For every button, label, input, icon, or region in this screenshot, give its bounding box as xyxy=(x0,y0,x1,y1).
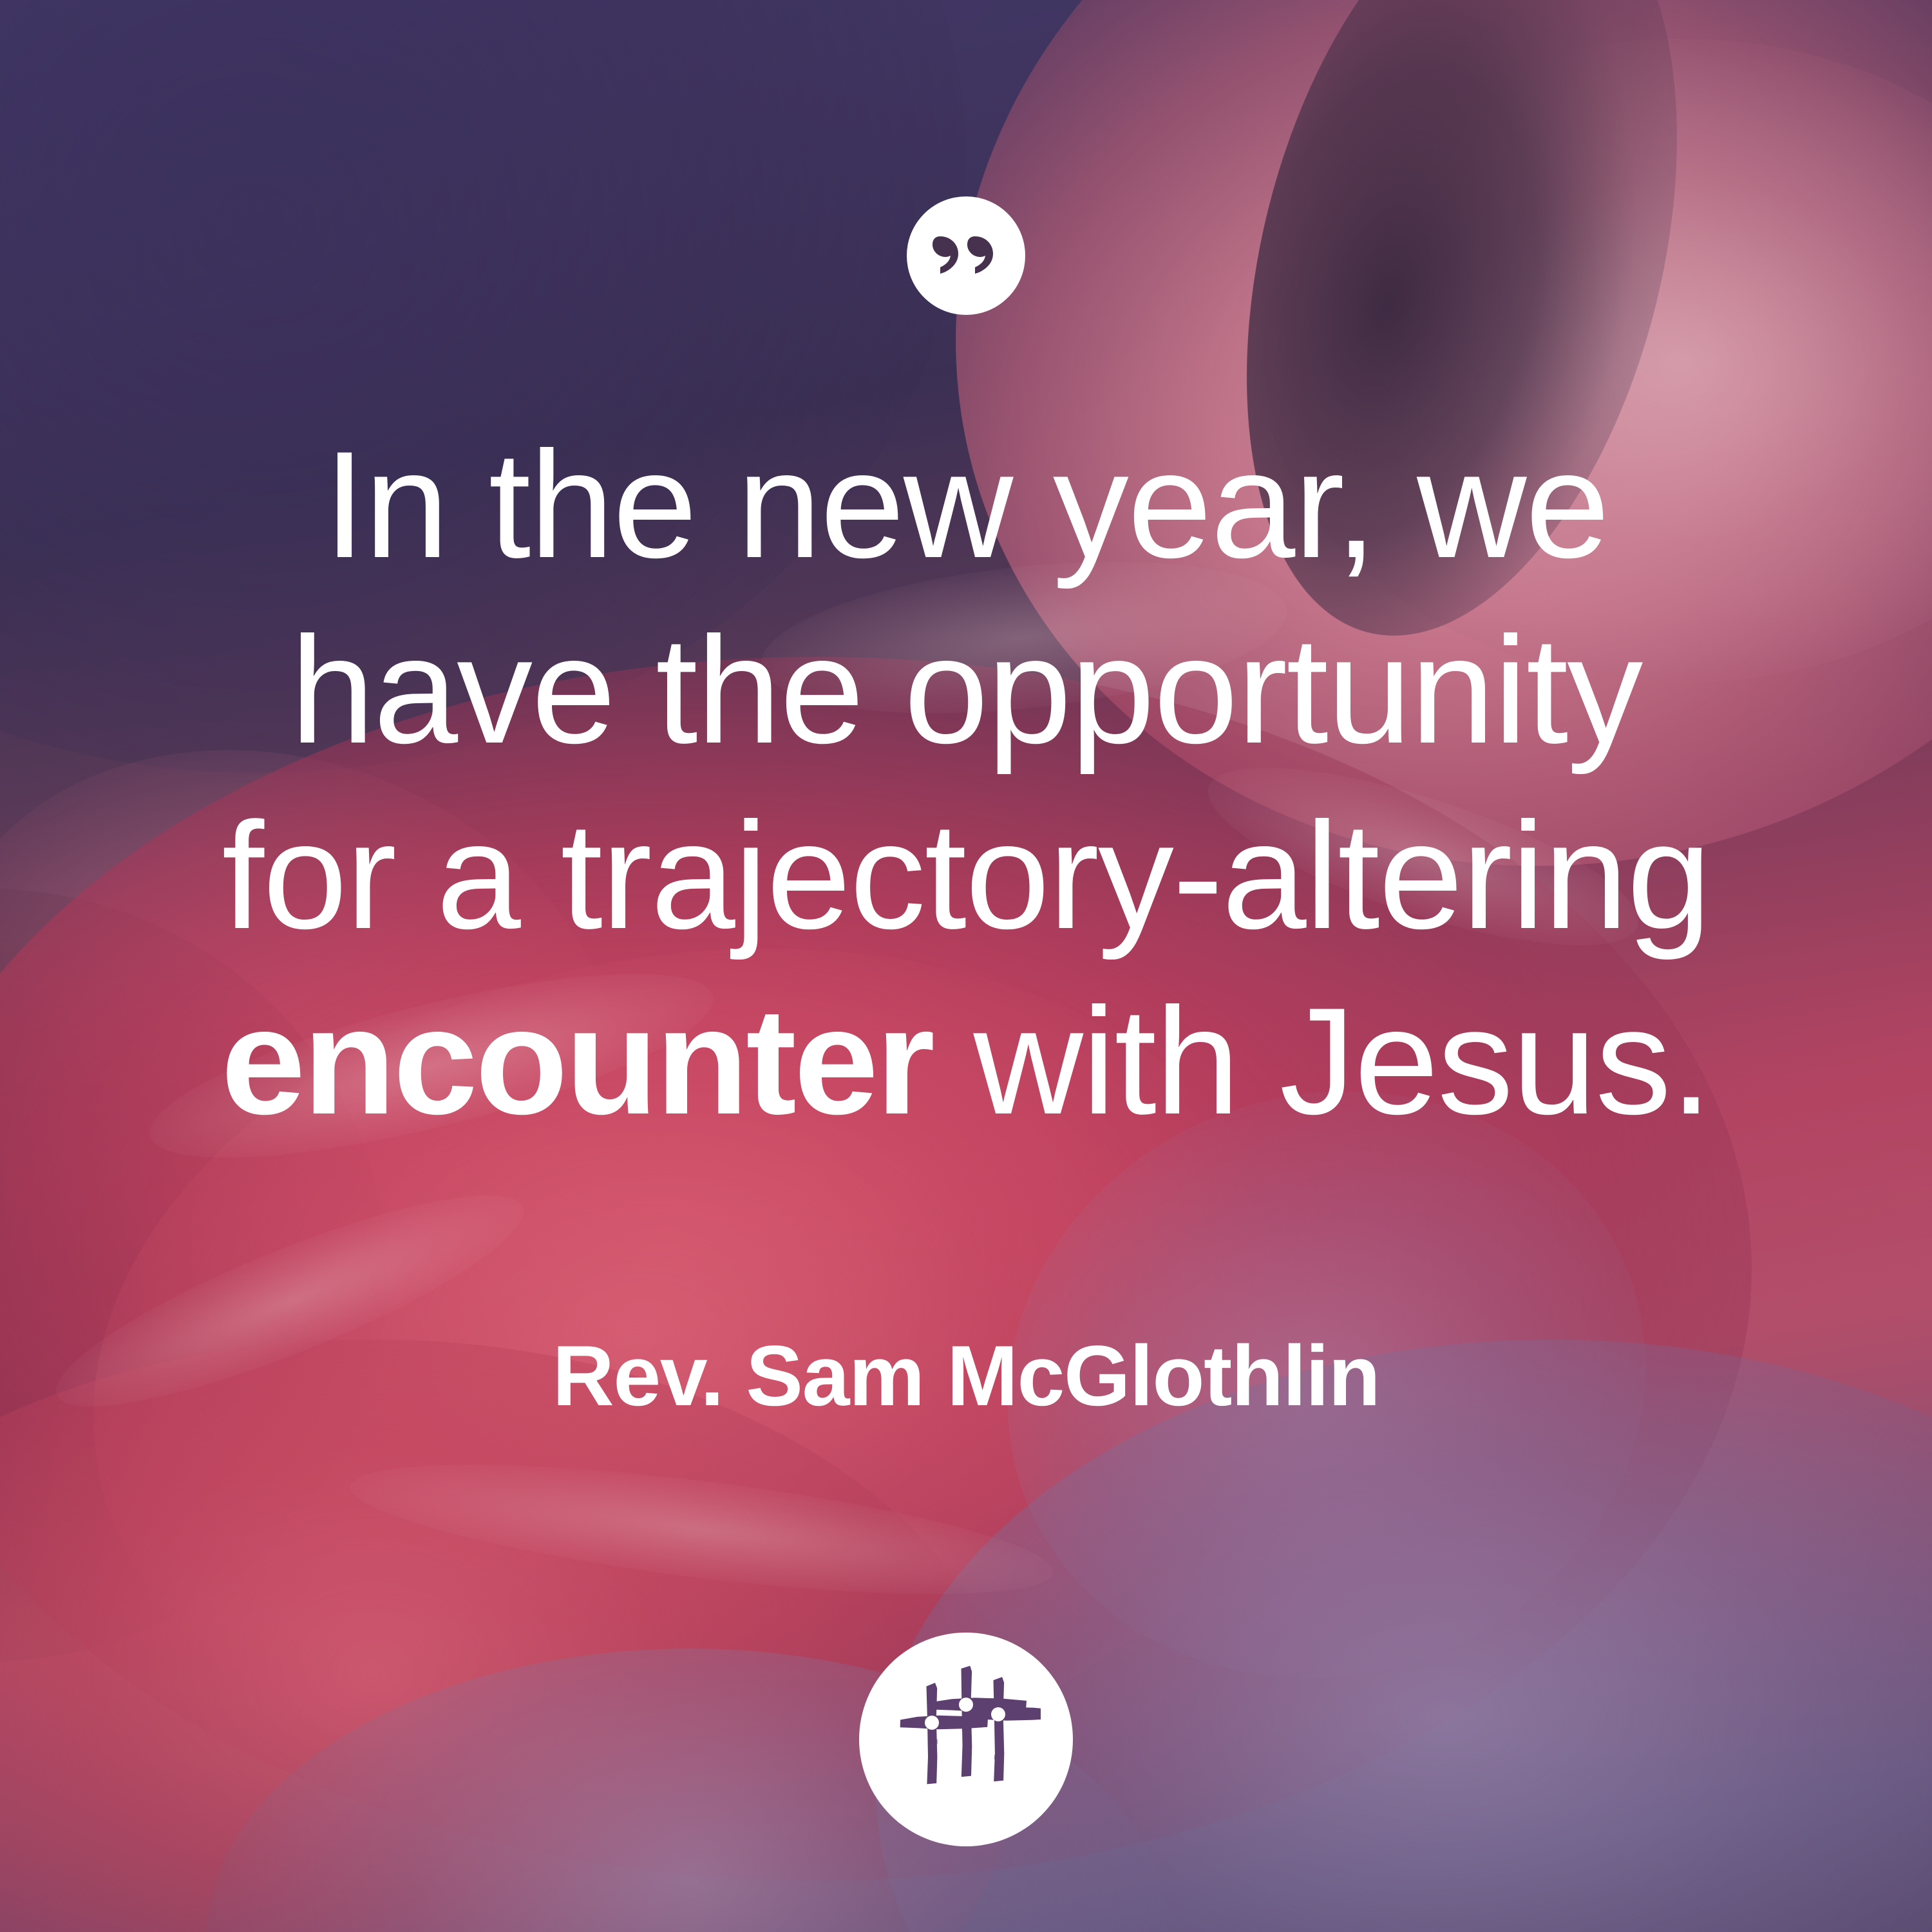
quote-graphic-card: In the new year, we have the opportunity… xyxy=(0,0,1932,1932)
three-crosses-logo-icon xyxy=(891,1665,1041,1814)
quote-badge xyxy=(907,196,1025,315)
attribution-name: Rev. Sam McGlothlin xyxy=(0,1328,1932,1425)
quote-line-2: have the opportunity xyxy=(71,598,1861,783)
quote-text: In the new year, we have the opportunity… xyxy=(0,412,1932,1154)
quote-line-4: encounter with Jesus. xyxy=(71,969,1861,1154)
card-content: In the new year, we have the opportunity… xyxy=(0,0,1932,1932)
quote-highlight-word: encounter xyxy=(221,976,933,1146)
quote-line-1: In the new year, we xyxy=(71,412,1861,598)
quotation-mark-icon xyxy=(930,220,1002,292)
quote-line-3: for a trajectory-altering xyxy=(71,783,1861,969)
logo-badge xyxy=(859,1633,1073,1846)
quote-line-4-rest: with Jesus. xyxy=(933,976,1711,1146)
